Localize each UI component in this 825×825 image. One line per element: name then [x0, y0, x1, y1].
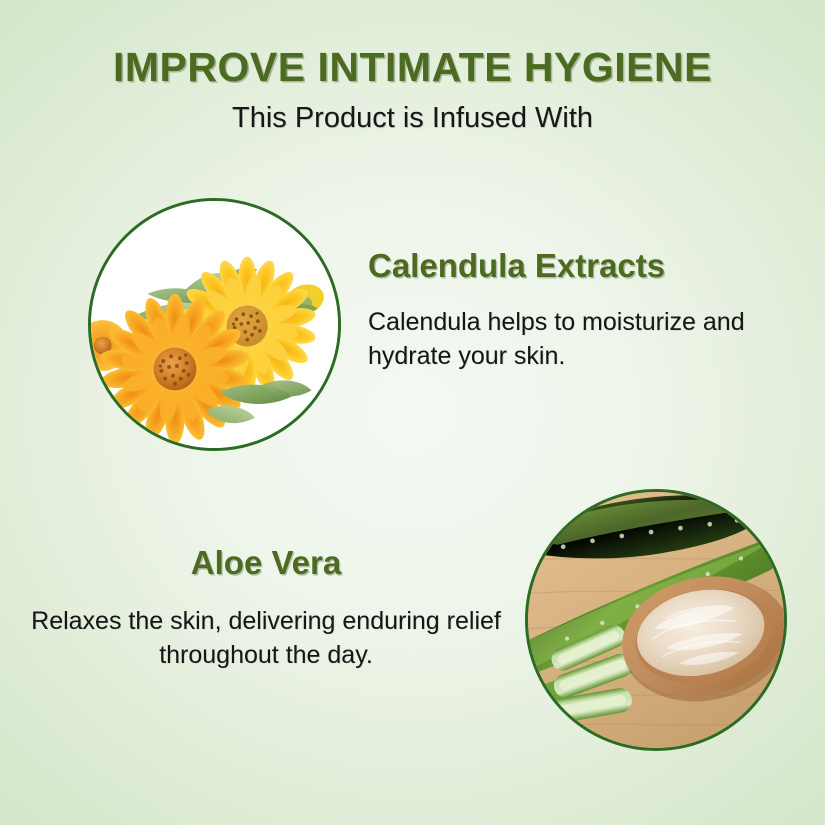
page-subtitle: This Product is Infused With [0, 103, 825, 135]
aloe-text-block: Aloe Vera Relaxes the skin, delivering e… [22, 545, 510, 673]
calendula-heading: Calendula Extracts [368, 248, 800, 284]
calendula-text-block: Calendula Extracts Calendula helps to mo… [368, 248, 800, 374]
page-title: IMPROVE INTIMATE HYGIENE [0, 46, 825, 89]
aloe-description: Relaxes the skin, delivering enduring re… [22, 605, 510, 673]
header-block: IMPROVE INTIMATE HYGIENE This Product is… [0, 46, 825, 135]
infographic-canvas: IMPROVE INTIMATE HYGIENE This Product is… [0, 0, 825, 825]
aloe-heading: Aloe Vera [22, 545, 510, 581]
calendula-description: Calendula helps to moisturize and hydrat… [368, 306, 800, 374]
calendula-flowers-photo [88, 198, 341, 451]
aloe-vera-photo [525, 489, 787, 751]
aloe-illustration [528, 492, 784, 748]
calendula-illustration [91, 201, 338, 448]
